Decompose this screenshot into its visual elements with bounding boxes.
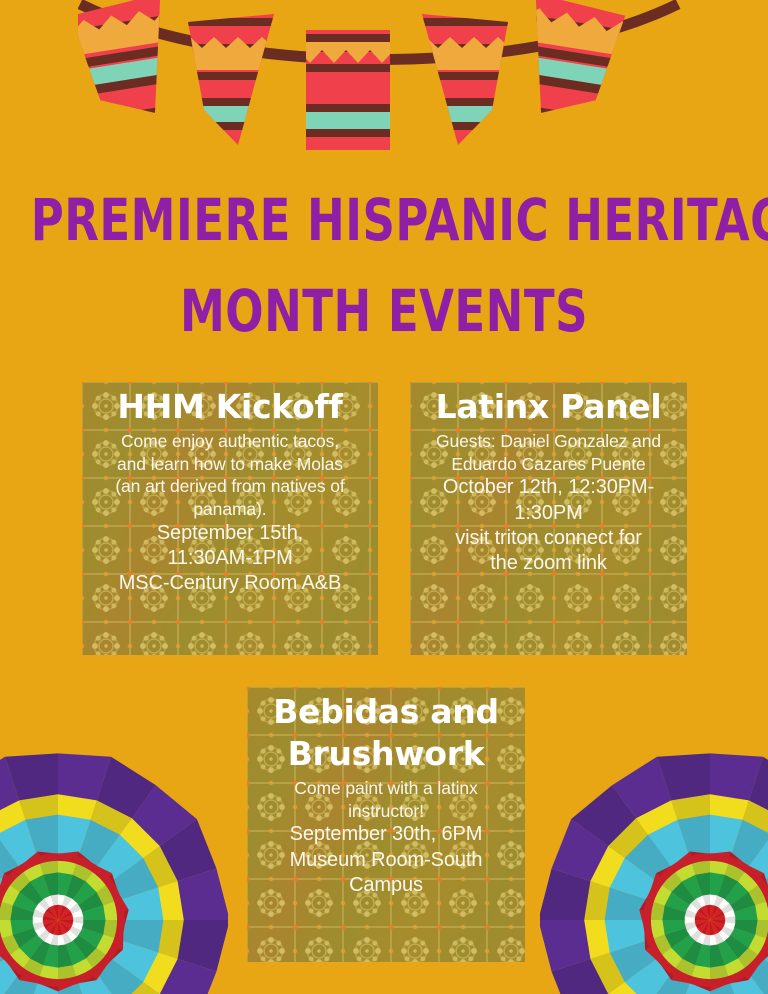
rosette-pleat [96, 958, 143, 994]
event-title: Bebidas and [247, 693, 525, 732]
rosette-pleat [710, 911, 725, 920]
rosette-pleat [65, 939, 86, 965]
rosette-pleat [727, 970, 749, 984]
rosette-pleat [705, 920, 710, 935]
rosette-pleat [72, 881, 97, 906]
rosette-pleat [155, 920, 184, 959]
rosette-pleat [30, 939, 51, 965]
page-title: Premiere Hispanic Heritage Month Events [0, 196, 768, 336]
event-card-bebidas-and-brushwork[interactable]: Bebidas and Brushwork Come paint with a … [247, 687, 525, 898]
rosette-pleat [754, 920, 768, 939]
rosette-pleat [0, 958, 20, 994]
rosette-pleat [58, 905, 63, 920]
rosette-pleat [671, 794, 710, 823]
rosette-pleat [39, 859, 58, 877]
event-date: September 30th, 6PM [247, 822, 525, 847]
rosette-pleat [43, 920, 58, 925]
rosette-pleat [68, 926, 81, 937]
rosette-pleat [157, 958, 216, 994]
rosette-pleat [729, 892, 755, 913]
rosette-pleat [650, 873, 665, 895]
rosette-pleat [81, 920, 106, 935]
rosette-pleat [119, 887, 163, 920]
rosette-pleat [714, 896, 724, 909]
rosette-pleat [742, 959, 760, 980]
rosette-pleat [649, 901, 667, 920]
rosette-pleat [30, 875, 51, 901]
event-detail-line: Come enjoy authentic tacos, [82, 430, 378, 453]
rosette-pleat [70, 909, 83, 918]
rosette-pleat [118, 980, 160, 994]
rosette-pleat [710, 933, 717, 945]
rosette-pleat [117, 910, 129, 930]
rosette-pleat [733, 920, 758, 935]
rosette-pleat [608, 818, 650, 860]
rosette-red-hoop [0, 857, 121, 983]
rosette-pleat [39, 977, 58, 991]
rosette-pleat [0, 858, 6, 900]
rosette-pleat [691, 977, 710, 991]
rosette-pleat [0, 820, 38, 868]
rosette-pleat [691, 899, 703, 912]
rosette-pleat [720, 903, 733, 914]
rosette-pleat [660, 959, 678, 980]
rosette-pleat [762, 858, 768, 900]
rosette-pleat [35, 926, 48, 937]
rosette-pleat [4, 864, 26, 881]
rosette-pleat [695, 915, 710, 920]
rosette-pleat [0, 928, 4, 949]
rosette-pleat [10, 920, 35, 935]
rosette-pleat [112, 892, 129, 911]
rosette-pleat [682, 939, 703, 965]
rosette-pleat [5, 753, 58, 803]
event-date: September 15th, [82, 521, 378, 546]
rosette-pleat [51, 933, 58, 945]
rosette-pleat [90, 800, 132, 837]
rosette-pleat [46, 920, 58, 932]
rosette-pleat [695, 872, 710, 897]
rosette-pleat [90, 959, 108, 980]
rosette-pleat [747, 884, 768, 906]
rosette-pleat [710, 977, 729, 991]
rosette-pleat [710, 981, 743, 994]
rosette-pleat [710, 920, 715, 935]
rosette-pleat [674, 862, 696, 883]
poster-canvas: Premiere Hispanic Heritage Month Events … [0, 0, 768, 994]
rosette-pleat [43, 872, 58, 897]
rosette-pleat [605, 887, 649, 920]
rosette-pleat [665, 927, 691, 948]
rosette-pleat [720, 926, 733, 937]
rosette-pleat [687, 903, 700, 914]
rosette-pleat [552, 958, 611, 994]
paper-rosette-right [540, 750, 768, 994]
rosette-pleat [77, 927, 103, 948]
rosette-pleat [130, 785, 197, 848]
rosette-pleat [717, 899, 729, 912]
rosette-pleat [610, 940, 658, 982]
bunting-flag-3 [294, 20, 398, 170]
title-line-2: Month Events [31, 283, 738, 341]
rosette-pleat [645, 945, 665, 964]
bunting-flag-2 [178, 0, 298, 175]
rosette-pleat [19, 934, 44, 959]
rosette-pleat [58, 915, 73, 920]
rosette-pleat [22, 957, 44, 978]
rosette-pleat [691, 929, 703, 942]
rosette-pleat [112, 928, 124, 949]
rosette-pleat [705, 905, 710, 920]
rosette-pleat [58, 933, 65, 945]
rosette-pleat [685, 909, 698, 918]
event-title: Latinx Panel [410, 388, 687, 427]
rosette-pleat [714, 931, 724, 944]
rosette-pleat [755, 873, 768, 895]
rosette-pleat [649, 920, 667, 939]
rosette-pleat [685, 922, 698, 931]
rosette-pleat [85, 947, 108, 970]
rosette-pleat [710, 851, 730, 862]
rosette-pleat [49, 905, 58, 920]
rosette-pleat [58, 895, 65, 907]
rosette-pleat [717, 939, 738, 965]
event-time: 1:30PM [410, 501, 687, 526]
rosette-pleat [58, 908, 70, 920]
rosette-pleat [748, 835, 768, 882]
rosette-pleat [110, 940, 158, 982]
rosette-pleat [141, 952, 178, 994]
rosette-pleat [10, 905, 35, 920]
rosette-pleat [53, 920, 58, 935]
rosette-pleat [747, 934, 768, 956]
rosette-pleat [610, 858, 658, 900]
rosette-pleat [698, 920, 710, 932]
rosette-pleat [174, 869, 228, 920]
rosette-pleat [0, 934, 21, 956]
rosette-pleat [71, 916, 83, 923]
event-location: the zoom link [410, 551, 687, 576]
rosette-pleat [58, 964, 77, 982]
rosette-pleat [77, 892, 103, 913]
rosette-pleat [78, 972, 120, 994]
rosette-pleat [710, 920, 725, 925]
rosette-pleat [665, 892, 691, 913]
rosette-pleat [762, 940, 768, 982]
rosette-pleat [696, 896, 706, 909]
bunting-flag-1 [78, 0, 234, 175]
rosette-pleat [44, 896, 54, 909]
rosette-pleat [62, 896, 72, 909]
paper-rosette-left [0, 750, 228, 994]
rosette-pleat [103, 873, 118, 895]
rosette-pleat [710, 920, 719, 935]
rosette-pleat [695, 920, 710, 929]
rosette-pleat [75, 851, 94, 869]
rosette-pleat [710, 908, 722, 920]
rosette-pleat [53, 905, 58, 920]
rosette-pleat [78, 820, 120, 868]
rosette-pleat [58, 794, 97, 823]
rosette-pleat [639, 910, 651, 930]
rosette-pleat [103, 945, 123, 964]
rosette-pleat [671, 881, 696, 906]
bunting-string [80, 4, 678, 60]
event-detail-line: Come paint with a latinx [247, 777, 525, 800]
rosette-pleat [571, 785, 638, 848]
rosette-pleat [701, 905, 710, 920]
rosette-pleat [691, 859, 710, 877]
rosette-pleat [754, 901, 768, 920]
rosette-pleat [690, 851, 710, 862]
rosette-pleat [96, 835, 143, 882]
rosette-pleat [540, 869, 594, 920]
rosette-pleat [39, 929, 51, 942]
rosette-pleat [540, 920, 594, 971]
event-detail-line: and learn how to make Molas [82, 453, 378, 476]
rosette-pleat [660, 947, 683, 970]
bunting-flag-4 [414, 0, 534, 175]
rosette-pleat [710, 815, 743, 859]
event-detail-line: panama). [82, 498, 378, 521]
rosette-pleat [75, 970, 97, 984]
papel-picado-bunting [78, 0, 682, 175]
rosette-pleat [58, 872, 73, 897]
rosette-pleat [8, 959, 26, 980]
rosette-pleat [72, 934, 97, 959]
rosette-pleat [90, 864, 112, 881]
rosette-pleat [44, 931, 54, 944]
rosette-pleat [733, 905, 758, 920]
rosette-pleat [590, 952, 627, 994]
rosette-pleat [724, 881, 749, 906]
rosette-pleat [724, 957, 746, 978]
rosette-pleat [612, 757, 672, 821]
rosette-pleat [742, 864, 764, 881]
rosette-pleat [748, 958, 768, 994]
rosette-pleat [43, 920, 58, 929]
rosette-red-hoop [647, 857, 768, 983]
rosette-pleat [19, 794, 58, 823]
event-location: Museum Room-South [247, 848, 525, 873]
rosette-pleat [13, 927, 39, 948]
rosette-pleat [39, 964, 58, 982]
rosette-pleat [33, 916, 45, 923]
rosette-pleat [58, 920, 67, 935]
title-line-1: Premiere Hispanic Heritage [31, 192, 738, 250]
rosette-pleat [58, 943, 73, 968]
rosette-pleat [724, 862, 746, 883]
rosette-pleat [58, 920, 63, 935]
event-guests-line: Eduardo Cazares Puente [410, 453, 687, 476]
rosette-pleat [65, 899, 77, 912]
rosette-pleat [35, 903, 48, 914]
rosette-pleat [72, 957, 94, 978]
rosette-pleat [703, 895, 710, 907]
rosette-pleat [662, 905, 687, 920]
rosette-pleat [710, 964, 729, 982]
rosette-pleat [764, 892, 768, 911]
event-detail-line: (an art derived from natives of [82, 475, 378, 498]
rosette-pleat [58, 920, 70, 932]
rosette-pleat [717, 875, 738, 901]
rosette-pleat [25, 981, 58, 994]
rosette-pleat [701, 920, 710, 935]
rosette-pleat [710, 895, 717, 907]
event-card-hhm-kickoff[interactable]: HHM Kickoff Come enjoy authentic tacos, … [82, 382, 378, 597]
rosette-pleat [0, 972, 38, 994]
rosette-pleat [710, 943, 725, 968]
rosette-pleat [95, 934, 116, 956]
rosette-pleat [748, 757, 768, 821]
rosette-pleat [70, 922, 83, 931]
rosette-pleat [727, 851, 746, 869]
rosette-pleat [39, 899, 51, 912]
rosette-pleat [677, 981, 710, 994]
rosette-pleat [724, 934, 749, 959]
rosette-pleat [0, 873, 13, 895]
rosette-pleat [58, 851, 78, 862]
event-location: Campus [247, 873, 525, 898]
rosette-pleat [58, 981, 91, 994]
rosette-pleat [722, 909, 735, 918]
rosette-pleat [695, 943, 710, 968]
rosette-pleat [723, 916, 735, 923]
rosette-pleat [682, 875, 703, 901]
rosette-pleat [155, 881, 184, 920]
rosette-pleat [698, 908, 710, 920]
rosette-pleat [652, 884, 673, 906]
rosette-pleat [605, 920, 649, 953]
rosette-pleat [81, 905, 106, 920]
rosette-pleat [625, 958, 672, 994]
rosette-pleat [674, 957, 696, 978]
rosette-pleat [174, 920, 228, 971]
event-title-second-line: Brushwork [247, 735, 525, 774]
rosette-pleat [764, 928, 768, 949]
rosette-pleat [46, 908, 58, 920]
rosette-pleat [636, 800, 678, 837]
rosette-pleat [687, 926, 700, 937]
rosette-pleat [8, 870, 31, 893]
rosette-pleat [691, 964, 710, 982]
rosette-pleat [62, 931, 72, 944]
rosette-pleat [102, 920, 120, 939]
event-detail-line: instructor! [247, 800, 525, 823]
rosette-pleat [695, 920, 710, 925]
rosette-pleat [625, 835, 672, 882]
rosette-pleat [19, 970, 41, 984]
rosette-pleat [33, 909, 46, 918]
rosette-pleat [648, 820, 690, 868]
rosette-pleat [0, 940, 6, 982]
rosette-pleat [685, 916, 697, 923]
rosette-pleat [662, 920, 687, 935]
rosette-pleat [729, 927, 755, 948]
rosette-pleat [717, 929, 729, 942]
rosette-pleat [722, 922, 735, 931]
rosette-pleat [43, 943, 58, 968]
rosette-pleat [660, 870, 683, 893]
rosette-pleat [58, 815, 91, 859]
rosette-pleat [656, 864, 678, 881]
rosette-pleat [58, 905, 67, 920]
rosette-pleat [58, 911, 73, 920]
rosette-pleat [72, 862, 94, 883]
event-location: visit triton connect for [410, 526, 687, 551]
rosette-pleat [674, 851, 693, 869]
rosette-pleat [38, 851, 58, 862]
rosette-pleat [590, 846, 627, 888]
rosette-pleat [141, 846, 178, 888]
rosette-pleat [671, 934, 696, 959]
rosette-pleat [737, 870, 760, 893]
rosette-pleat [95, 884, 116, 906]
rosette-pleat [584, 881, 613, 920]
rosette-pleat [51, 895, 58, 907]
rosette-pleat [652, 934, 673, 956]
rosette-pleat [58, 977, 77, 991]
rosette-pleat [65, 929, 77, 942]
rosette-pleat [0, 945, 13, 964]
rosette-pleat [68, 903, 81, 914]
rosette-pleat [730, 820, 768, 868]
rosette-pleat [710, 753, 763, 803]
rosette-pleat [8, 947, 31, 970]
rosette-pleat [0, 800, 26, 837]
event-date: October 12th, 12:30PM- [410, 475, 687, 500]
rosette-pleat [22, 851, 41, 869]
rosette-pleat [49, 920, 58, 935]
rosette-pleat [43, 911, 58, 920]
rosette-pleat [58, 920, 73, 925]
rosette-pleat [58, 753, 111, 803]
rosette-pleat [58, 859, 77, 877]
event-time: 11:30AM-1PM [82, 546, 378, 571]
rosette-pleat [742, 800, 768, 837]
rosette-pleat [33, 922, 46, 931]
rosette-pleat [639, 892, 656, 911]
rosette-pleat [22, 862, 44, 883]
rosette-pleat [710, 905, 719, 920]
event-card-latinx-panel[interactable]: Latinx Panel Guests: Daniel Gonzalez and… [410, 382, 687, 576]
rosette-pleat [0, 901, 14, 920]
bunting-flag-5 [499, 0, 682, 175]
rosette-pleat [110, 858, 158, 900]
rosette-pleat [644, 928, 656, 949]
rosette-pleat [96, 757, 156, 821]
rosette-pleat [85, 870, 108, 893]
rosette-pleat [703, 933, 710, 945]
rosette-pleat [608, 980, 650, 994]
rosette-pleat [118, 818, 160, 860]
rosette-pleat [19, 881, 44, 906]
rosette-pleat [710, 794, 749, 823]
rosette-pleat [710, 915, 725, 920]
event-guests-line: Guests: Daniel Gonzalez and [410, 430, 687, 453]
rosette-pleat [696, 931, 706, 944]
rosette-pleat [157, 819, 216, 882]
rosette-pleat [710, 920, 722, 932]
rosette-pleat [102, 901, 120, 920]
rosette-pleat [43, 915, 58, 920]
rosette-pleat [648, 972, 690, 994]
rosette-pleat [710, 905, 715, 920]
rosette-pleat [119, 920, 163, 953]
rosette-pleat [695, 911, 710, 920]
rosette-pleat [657, 753, 710, 803]
rosette-pleat [737, 947, 760, 970]
